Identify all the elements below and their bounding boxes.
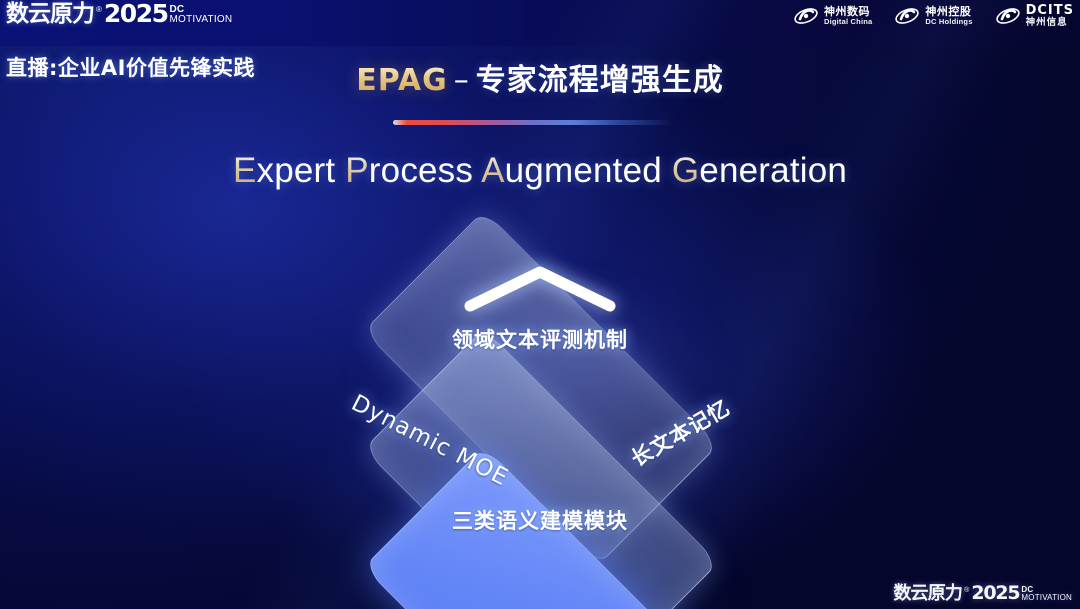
partner-name-en: DCITS (1026, 4, 1074, 18)
watermark-motivation: MOTIVATION (1021, 594, 1072, 602)
partner-logo-digital-china: 神州数码 Digital China (793, 5, 872, 27)
brand-logo-motivation: MOTIVATION (170, 15, 233, 25)
watermark-registered: ® (964, 587, 969, 603)
subtitle-rest-augmented: ugmented (505, 151, 662, 190)
subtitle-rest-expert: xpert (257, 151, 336, 190)
subtitle-rest-process: rocess (369, 151, 473, 190)
watermark-dc-motivation: DC MOTIVATION (1021, 586, 1072, 603)
title-acronym: EPAG (356, 63, 448, 98)
subtitle-cap-a: A (481, 151, 505, 190)
partner-logo-text: DCITS 神州信息 (1026, 4, 1074, 28)
brand-logo-cn: 数云原力 (6, 3, 94, 26)
subtitle-word-generation: Generation (672, 151, 847, 190)
swirl-logo-icon (894, 5, 920, 27)
subtitle-cap-e: E (233, 151, 257, 190)
partner-name-cn: 神州数码 (824, 6, 872, 18)
partner-logo-text: 神州数码 Digital China (824, 6, 872, 25)
partner-name-en: DC Holdings (925, 18, 972, 26)
subtitle-word-expert: Expert (233, 151, 335, 190)
partner-logo-group: 神州数码 Digital China 神州控股 DC Holdings (793, 4, 1074, 28)
partner-logo-dcits: DCITS 神州信息 (995, 4, 1074, 28)
watermark-cn: 数云原力 (893, 585, 962, 603)
title-dash: – (448, 63, 476, 98)
watermark-year: 2025 (971, 584, 1019, 603)
title-divider (393, 120, 674, 125)
partner-name-cn: 神州控股 (925, 6, 972, 18)
layer-stack-diagram: 领域文本评测机制 Dynamic MOE 长文本记忆 三类语义建模模块 (233, 222, 847, 592)
brand-logo-registered: ® (96, 6, 102, 26)
swirl-logo-icon (793, 5, 819, 27)
layer-top-label: 领域文本评测机制 (233, 324, 847, 354)
subtitle-word-process: Process (345, 151, 473, 190)
brand-logo-year: 2025 (104, 1, 168, 26)
partner-name-cn: 神州信息 (1026, 18, 1074, 28)
subtitle-cap-p: P (345, 151, 369, 190)
partner-logo-text: 神州控股 DC Holdings (925, 6, 972, 25)
swirl-logo-icon (995, 5, 1021, 27)
title-chinese: 专家流程增强生成 (476, 63, 724, 98)
chevron-up-icon (462, 262, 618, 314)
page-subtitle: Expert Process Augmented Generation (0, 151, 1080, 191)
subtitle-word-augmented: Augmented (481, 151, 662, 190)
partner-logo-dc-holdings: 神州控股 DC Holdings (894, 5, 972, 27)
subtitle-cap-g: G (672, 151, 699, 190)
slide-canvas: 数云原力 ® 2025 DC MOTIVATION 直播:企业AI价值先锋实践 … (0, 0, 1080, 609)
watermark-logo: 数云原力 ® 2025 DC MOTIVATION (893, 584, 1072, 603)
brand-logo-dc-motivation: DC MOTIVATION (170, 5, 233, 26)
partner-name-en: Digital China (824, 18, 872, 26)
brand-logo: 数云原力 ® 2025 DC MOTIVATION (6, 1, 232, 26)
layer-bottom-label: 三类语义建模模块 (233, 505, 847, 535)
live-session-title: 直播:企业AI价值先锋实践 (6, 52, 255, 82)
subtitle-rest-generation: eneration (699, 151, 847, 190)
